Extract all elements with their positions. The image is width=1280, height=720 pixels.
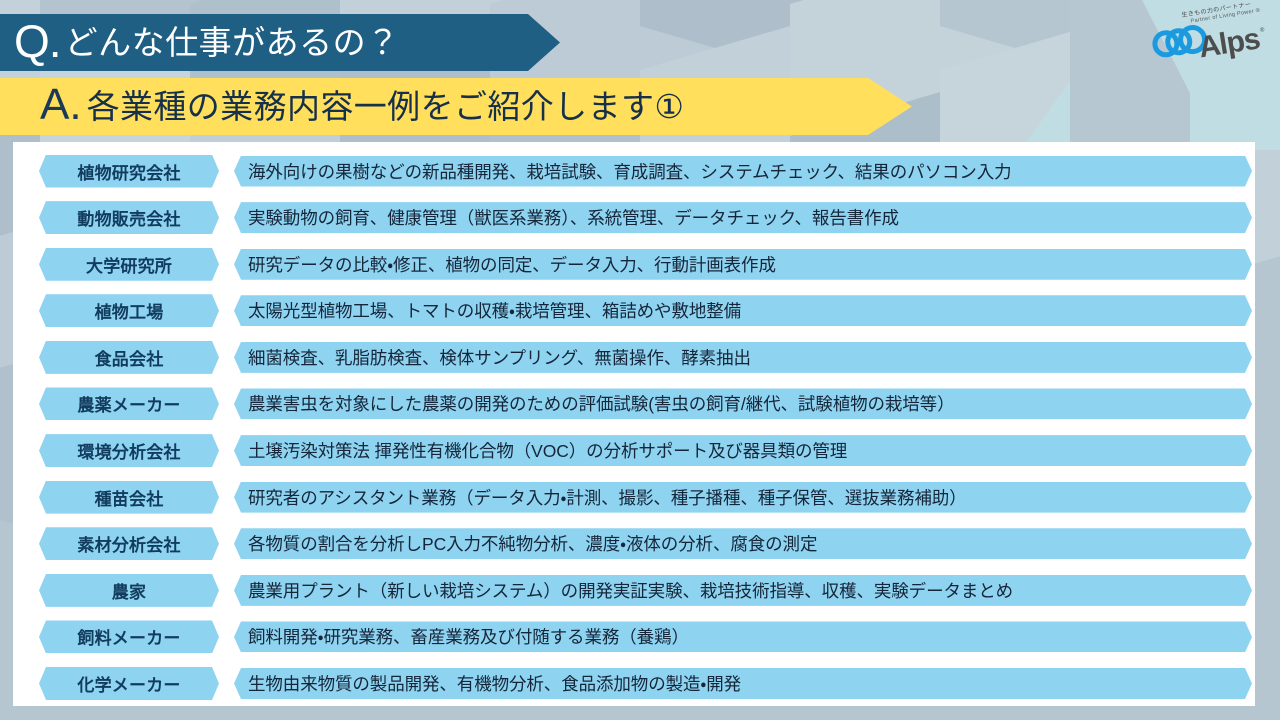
category-label: 飼料メーカー bbox=[77, 624, 180, 649]
description-pill[interactable]: 飼料開発・研究業務、畜産業務及び付随する業務（養鶏） bbox=[234, 621, 1252, 652]
description-text: 海外向けの果樹などの新品種開発、栽培試験、育成調査、システムチェック、結果のパソ… bbox=[234, 159, 1012, 184]
category-pill[interactable]: 農家 bbox=[39, 574, 219, 607]
category-label: 種苗会社 bbox=[95, 485, 164, 510]
description-text: 農業害虫を対象にした農薬の開発のための評価試験(害虫の飼育/継代、試験植物の栽培… bbox=[234, 391, 955, 416]
description-text: 研究データの比較・修正、植物の同定、データ入力、行動計画表作成 bbox=[234, 252, 776, 277]
description-text: 太陽光型植物工場、トマトの収穫・栽培管理、箱詰めや敷地整備 bbox=[234, 298, 741, 323]
category-label: 環境分析会社 bbox=[77, 438, 180, 463]
category-label: 素材分析会社 bbox=[77, 531, 180, 556]
description-text: 飼料開発・研究業務、畜産業務及び付随する業務（養鶏） bbox=[234, 624, 689, 649]
description-pill[interactable]: 研究データの比較・修正、植物の同定、データ入力、行動計画表作成 bbox=[234, 249, 1252, 280]
description-pill[interactable]: 研究者のアシスタント業務（データ入力・計測、撮影、種子播種、種子保管、選抜業務補… bbox=[234, 482, 1252, 513]
table-row: 素材分析会社各物質の割合を分析しPC入力不純物分析、濃度・液体の分析、腐食の測定 bbox=[13, 525, 1255, 563]
description-text: 細菌検査、乳脂肪検査、検体サンプリング、無菌操作、酵素抽出 bbox=[234, 345, 751, 370]
answer-marker: A. bbox=[40, 83, 82, 127]
description-pill[interactable]: 各物質の割合を分析しPC入力不純物分析、濃度・液体の分析、腐食の測定 bbox=[234, 528, 1252, 559]
description-pill[interactable]: 農業用プラント（新しい栽培システム）の開発実証実験、栽培技術指導、収穫、実験デー… bbox=[234, 575, 1252, 606]
description-pill[interactable]: 細菌検査、乳脂肪検査、検体サンプリング、無菌操作、酵素抽出 bbox=[234, 342, 1252, 373]
table-row: 植物工場太陽光型植物工場、トマトの収穫・栽培管理、箱詰めや敷地整備 bbox=[13, 292, 1255, 330]
table-row: 植物研究会社海外向けの果樹などの新品種開発、栽培試験、育成調査、システムチェック… bbox=[13, 152, 1255, 190]
category-label: 動物販売会社 bbox=[77, 205, 180, 230]
table-row: 農薬メーカー農業害虫を対象にした農薬の開発のための評価試験(害虫の飼育/継代、試… bbox=[13, 385, 1255, 423]
category-label: 化学メーカー bbox=[77, 671, 180, 696]
category-pill[interactable]: 環境分析会社 bbox=[39, 434, 219, 467]
category-pill[interactable]: 化学メーカー bbox=[39, 667, 219, 700]
question-banner: Q. どんな仕事があるの？ bbox=[0, 14, 560, 71]
question-marker: Q. bbox=[14, 18, 61, 64]
table-row: 種苗会社研究者のアシスタント業務（データ入力・計測、撮影、種子播種、種子保管、選… bbox=[13, 478, 1255, 516]
table-row: 農家農業用プラント（新しい栽培システム）の開発実証実験、栽培技術指導、収穫、実験… bbox=[13, 571, 1255, 609]
slide-root: Q. どんな仕事があるの？ A. 各業種の業務内容一例をご紹介します① 生きもの… bbox=[0, 0, 1280, 720]
description-text: 生物由来物質の製品開発、有機物分析、食品添加物の製造・開発 bbox=[234, 671, 741, 696]
job-table: 植物研究会社海外向けの果樹などの新品種開発、栽培試験、育成調査、システムチェック… bbox=[13, 152, 1255, 703]
table-row: 化学メーカー生物由来物質の製品開発、有機物分析、食品添加物の製造・開発 bbox=[13, 665, 1255, 703]
description-text: 農業用プラント（新しい栽培システム）の開発実証実験、栽培技術指導、収穫、実験デー… bbox=[234, 578, 1013, 603]
category-pill[interactable]: 種苗会社 bbox=[39, 481, 219, 514]
category-label: 植物研究会社 bbox=[77, 159, 180, 184]
description-pill[interactable]: 太陽光型植物工場、トマトの収穫・栽培管理、箱詰めや敷地整備 bbox=[234, 295, 1252, 326]
table-row: 食品会社細菌検査、乳脂肪検査、検体サンプリング、無菌操作、酵素抽出 bbox=[13, 338, 1255, 376]
category-label: 食品会社 bbox=[95, 345, 164, 370]
description-pill[interactable]: 農業害虫を対象にした農薬の開発のための評価試験(害虫の飼育/継代、試験植物の栽培… bbox=[234, 388, 1252, 419]
table-row: 環境分析会社土壌汚染対策法 揮発性有機化合物（VOC）の分析サポート及び器具類の… bbox=[13, 432, 1255, 470]
table-row: 動物販売会社実験動物の飼育、健康管理（獣医系業務）、系統管理、データチェック、報… bbox=[13, 199, 1255, 237]
category-pill[interactable]: 植物研究会社 bbox=[39, 155, 219, 188]
content-panel: 植物研究会社海外向けの果樹などの新品種開発、栽培試験、育成調査、システムチェック… bbox=[13, 142, 1255, 706]
description-text: 土壌汚染対策法 揮発性有機化合物（VOC）の分析サポート及び器具類の管理 bbox=[234, 438, 847, 463]
description-pill[interactable]: 生物由来物質の製品開発、有機物分析、食品添加物の製造・開発 bbox=[234, 668, 1252, 699]
logo-registered-mark: ® bbox=[1260, 27, 1265, 34]
answer-text: 各業種の業務内容一例をご紹介します① bbox=[87, 90, 685, 123]
category-pill[interactable]: 素材分析会社 bbox=[39, 527, 219, 560]
category-pill[interactable]: 食品会社 bbox=[39, 341, 219, 374]
description-pill[interactable]: 土壌汚染対策法 揮発性有機化合物（VOC）の分析サポート及び器具類の管理 bbox=[234, 435, 1252, 466]
category-label: 大学研究所 bbox=[86, 252, 172, 277]
category-pill[interactable]: 植物工場 bbox=[39, 294, 219, 327]
category-label: 農薬メーカー bbox=[77, 391, 180, 416]
table-row: 大学研究所研究データの比較・修正、植物の同定、データ入力、行動計画表作成 bbox=[13, 245, 1255, 283]
description-text: 実験動物の飼育、健康管理（獣医系業務）、系統管理、データチェック、報告書作成 bbox=[234, 205, 899, 230]
category-pill[interactable]: 農薬メーカー bbox=[39, 387, 219, 420]
category-label: 植物工場 bbox=[95, 298, 164, 323]
category-label: 農家 bbox=[112, 578, 146, 603]
category-pill[interactable]: 大学研究所 bbox=[39, 248, 219, 281]
answer-banner: A. 各業種の業務内容一例をご紹介します① bbox=[0, 78, 912, 135]
logo-wordmark: Alps bbox=[1197, 24, 1262, 63]
category-pill[interactable]: 動物販売会社 bbox=[39, 201, 219, 234]
table-row: 飼料メーカー飼料開発・研究業務、畜産業務及び付随する業務（養鶏） bbox=[13, 618, 1255, 656]
description-pill[interactable]: 海外向けの果樹などの新品種開発、栽培試験、育成調査、システムチェック、結果のパソ… bbox=[234, 156, 1252, 187]
description-pill[interactable]: 実験動物の飼育、健康管理（獣医系業務）、系統管理、データチェック、報告書作成 bbox=[234, 202, 1252, 233]
category-pill[interactable]: 飼料メーカー bbox=[39, 620, 219, 653]
description-text: 各物質の割合を分析しPC入力不純物分析、濃度・液体の分析、腐食の測定 bbox=[234, 531, 817, 556]
question-text: どんな仕事があるの？ bbox=[65, 26, 400, 59]
description-text: 研究者のアシスタント業務（データ入力・計測、撮影、種子播種、種子保管、選抜業務補… bbox=[234, 485, 967, 510]
